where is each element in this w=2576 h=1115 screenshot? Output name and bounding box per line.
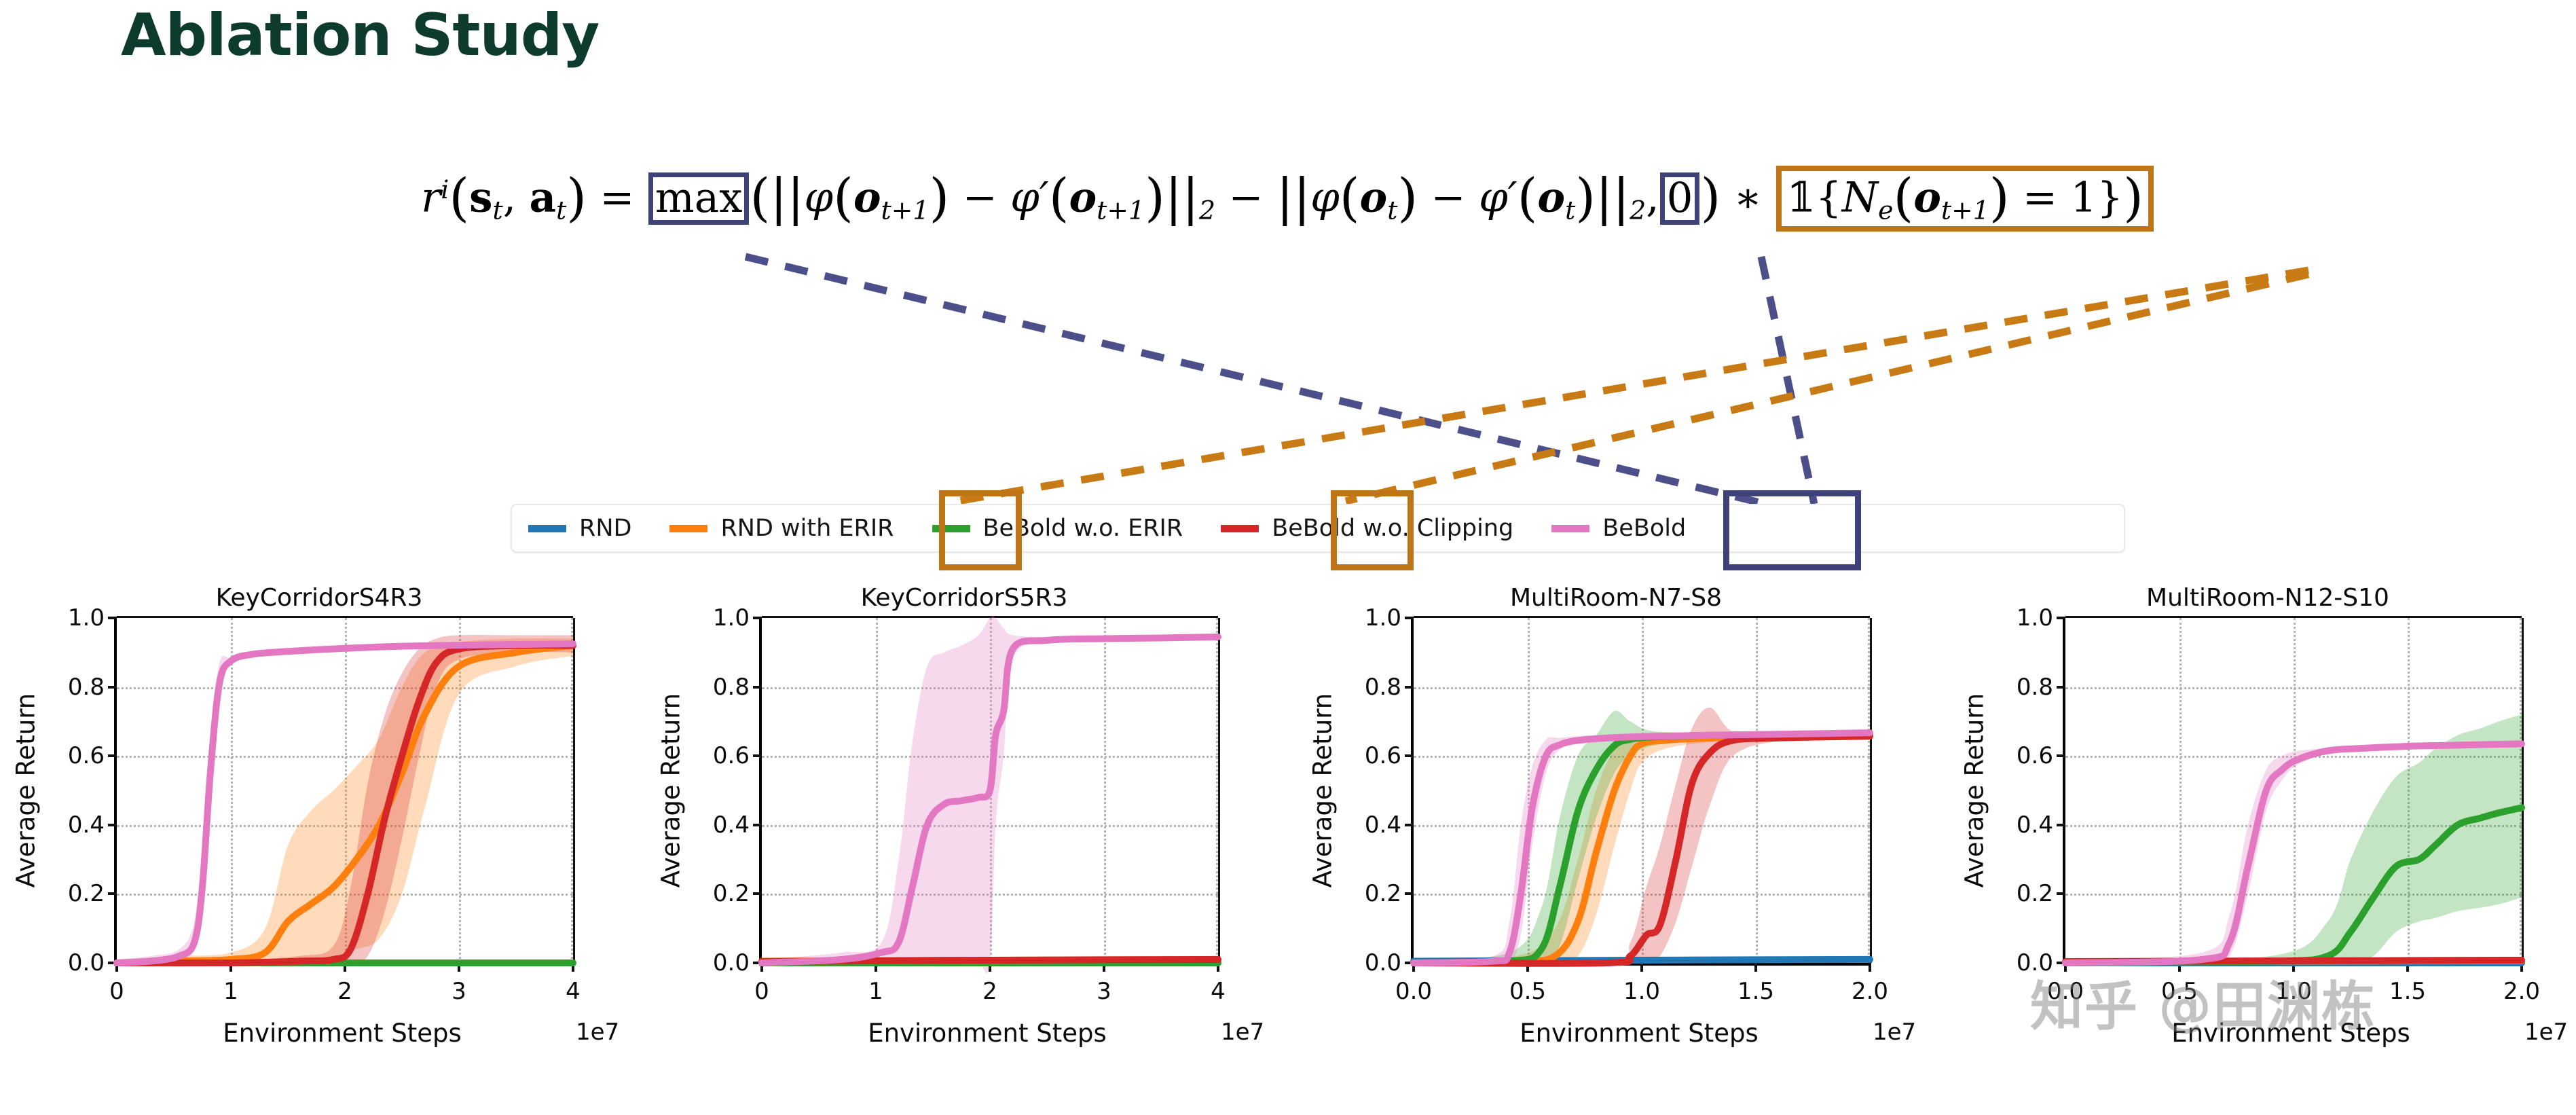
y-tick-mark	[2057, 824, 2065, 826]
formula-o1-subscript: t+1	[881, 195, 930, 225]
x-tick-label: 1.5	[1737, 978, 1774, 1005]
formula-phi2-close: )	[1397, 167, 1418, 227]
formula-zero-highlight-box: 0	[1660, 172, 1700, 225]
y-tick-mark	[108, 824, 117, 826]
formula-o2-subscript: t+1	[1097, 195, 1145, 225]
connector-max-to-clipping	[746, 257, 1765, 504]
formula-indicator-symbol: 𝟙	[1786, 174, 1815, 222]
y-tick-mark	[1405, 824, 1414, 826]
formula-norm2-subscript: 2	[1630, 195, 1646, 225]
formula-phip1-open: (	[1049, 167, 1069, 227]
y-tick-mark	[753, 824, 762, 826]
formula-o-1: o	[853, 174, 881, 222]
legend-label-rnd-with-erir: RND with ERIR	[720, 515, 894, 542]
y-tick-label: 0.8	[68, 674, 105, 701]
legend-swatch-bebold	[1551, 525, 1589, 532]
formula-phi2-open: (	[1340, 167, 1360, 227]
formula-indicator-close-brace: }	[2097, 174, 2123, 222]
formula-o4-subscript: t	[1565, 195, 1575, 225]
chart-panel-1: KeyCorridorS4R30.00.20.40.60.81.001234Av…	[14, 584, 625, 1114]
plot-area: 0.00.20.40.60.81.00.00.51.01.52.0	[2063, 618, 2522, 966]
formula-comma-2: ,	[1646, 174, 1659, 222]
y-axis-label: Average Return	[1960, 693, 1989, 888]
chart-title: KeyCorridorS5R3	[659, 584, 1270, 612]
y-tick-label: 0.6	[1365, 742, 1401, 769]
y-tick-mark	[753, 617, 762, 619]
y-tick-label: 0.4	[68, 811, 105, 839]
series-layer	[117, 618, 573, 963]
x-tick-label: 4	[1211, 978, 1226, 1005]
chart-title: MultiRoom-N7-S8	[1310, 584, 1921, 612]
y-tick-label: 1.0	[713, 604, 750, 632]
y-tick-mark	[108, 686, 117, 689]
y-tick-mark	[2057, 617, 2065, 619]
formula-r-superscript: i	[441, 175, 449, 204]
y-tick-label: 0.6	[713, 742, 750, 769]
x-axis-label: Environment Steps	[114, 1019, 570, 1048]
y-tick-mark	[108, 617, 117, 619]
formula-a-subscript: t	[556, 195, 566, 225]
plot-frame-right	[1218, 618, 1220, 963]
formula-r-symbol: r	[421, 174, 441, 222]
y-tick-label: 0.4	[2017, 811, 2053, 839]
formula-phip2-close: )	[1575, 167, 1596, 227]
series-band-rnd-with-erir	[117, 638, 573, 963]
x-axis-exponent-label: 1e7	[576, 1019, 619, 1046]
formula-final-close-paren: )	[2123, 167, 2143, 227]
formula-equals: =	[587, 174, 648, 222]
formula-phip2-open: (	[1517, 167, 1538, 227]
chart-title: MultiRoom-N12-S10	[1962, 584, 2573, 612]
y-axis-label: Average Return	[12, 693, 41, 888]
formula-o-4: o	[1537, 174, 1565, 222]
x-axis-exponent-label: 1e7	[2524, 1019, 2568, 1046]
y-tick-label: 0.2	[2017, 880, 2053, 907]
y-tick-label: 1.0	[1365, 604, 1401, 632]
formula-multiply: ∗	[1721, 174, 1775, 222]
formula-max-highlight-box: max	[648, 172, 750, 225]
y-tick-label: 0.8	[713, 674, 750, 701]
series-legend: RND RND with ERIR BeBold w.o. ERIR BeBol…	[511, 504, 2125, 553]
y-tick-label: 0.4	[1365, 811, 1401, 839]
legend-swatch-rnd	[528, 525, 566, 532]
formula-o3-subscript: t	[1387, 195, 1397, 225]
y-tick-mark	[1405, 686, 1414, 689]
slide-root: Ablation Study ri(st, at) = max(||φ(ot+1…	[0, 0, 2576, 1115]
x-tick-label: 2.0	[1852, 978, 1888, 1005]
y-tick-mark	[2057, 892, 2065, 895]
formula-phi1-open: (	[833, 167, 853, 227]
y-tick-mark	[753, 686, 762, 689]
x-tick-label: 2	[337, 978, 352, 1005]
y-tick-mark	[753, 892, 762, 895]
x-tick-label: 1	[223, 978, 238, 1005]
x-tick-label: 3	[452, 978, 466, 1005]
y-tick-mark	[108, 892, 117, 895]
y-tick-mark	[1405, 892, 1414, 895]
formula-open-paren: (	[449, 167, 469, 227]
chart-panel-3: MultiRoom-N7-S80.00.20.40.60.81.00.00.51…	[1310, 584, 1921, 1114]
x-tick-mark	[1869, 963, 1871, 972]
plot-frame-right	[2522, 618, 2524, 963]
y-tick-label: 1.0	[2017, 604, 2053, 632]
legend-item-bebold[interactable]: BeBold	[1551, 515, 1686, 542]
x-tick-label: 1.0	[1623, 978, 1660, 1005]
x-tick-label: 1	[868, 978, 883, 1005]
x-tick-label: 1.5	[2389, 978, 2426, 1005]
y-axis-label: Average Return	[1308, 693, 1338, 888]
formula-N-subscript: e	[1878, 195, 1893, 225]
legend-highlight-clipping	[1723, 490, 1861, 570]
y-tick-mark	[2057, 754, 2065, 757]
y-axis-label: Average Return	[657, 693, 686, 888]
y-tick-label: 0.0	[68, 949, 105, 976]
legend-swatch-bebold-wo-clipping	[1221, 525, 1259, 532]
y-tick-label: 0.6	[68, 742, 105, 769]
formula-o5-subscript: t+1	[1941, 195, 1989, 225]
y-tick-label: 0.6	[2017, 742, 2053, 769]
y-tick-mark	[1405, 754, 1414, 757]
formula-phip1-close: )	[1145, 167, 1165, 227]
y-tick-label: 0.2	[713, 880, 750, 907]
legend-swatch-rnd-with-erir	[669, 525, 707, 532]
y-tick-label: 1.0	[68, 604, 105, 632]
watermark: 知乎 @田渊栋	[2030, 964, 2376, 1040]
formula-equals-one: = 1	[2010, 174, 2097, 222]
plot-area: 0.00.20.40.60.81.001234	[114, 618, 573, 966]
formula-minus-1: −	[949, 174, 1010, 222]
formula-minus-2: −	[1215, 174, 1276, 222]
legend-label-bebold: BeBold	[1602, 515, 1686, 542]
formula-indicator-open-brace: {	[1816, 174, 1842, 222]
chart-panel-2: KeyCorridorS5R30.00.20.40.60.81.001234Av…	[659, 584, 1270, 1114]
x-tick-label: 4	[566, 978, 581, 1005]
formula-o-3: o	[1360, 174, 1388, 222]
legend-item-rnd[interactable]: RND	[528, 515, 631, 542]
formula-phi-prime-2: φ′	[1479, 174, 1517, 222]
formula-close-paren: )	[566, 167, 587, 227]
connector-zero-to-clipping	[1761, 257, 1814, 504]
page-title: Ablation Study	[121, 1, 599, 69]
plot-frame-right	[573, 618, 575, 963]
formula-o-2: o	[1069, 174, 1097, 222]
x-tick-mark	[1754, 963, 1757, 972]
formula-indicator-highlight-box: 𝟙{Ne(ot+1) = 1})	[1776, 166, 2153, 232]
formula-comma-1: ,	[503, 174, 530, 222]
formula-max-close-paren: )	[1700, 167, 1721, 227]
formula-phi1-close: )	[929, 167, 949, 227]
legend-highlight-erir-1	[939, 490, 1022, 570]
formula-phi-2: φ	[1310, 174, 1340, 222]
legend-highlight-erir-2	[1331, 490, 1414, 570]
formula-a-symbol: a	[529, 174, 556, 222]
legend-label-rnd: RND	[579, 515, 631, 542]
plot-area: 0.00.20.40.60.81.001234	[759, 618, 1218, 966]
formula-norm1-subscript: 2	[1199, 195, 1215, 225]
y-tick-label: 0.8	[2017, 674, 2053, 701]
formula-norm-close-1: ||	[1165, 167, 1199, 226]
plot-area: 0.00.20.40.60.81.00.00.51.01.52.0	[1411, 618, 1870, 966]
plot-frame-right	[1870, 618, 1872, 963]
formula-o-5: o	[1913, 174, 1941, 222]
x-axis-label: Environment Steps	[1411, 1019, 1867, 1048]
x-tick-label: 2.0	[2503, 978, 2540, 1005]
y-tick-mark	[1405, 617, 1414, 619]
x-tick-label: 2	[982, 978, 997, 1005]
formula-s-symbol: s	[469, 174, 492, 222]
x-axis-exponent-label: 1e7	[1873, 1019, 1916, 1046]
connector-indicator-to-erir-1	[957, 270, 2308, 501]
y-tick-label: 0.2	[1365, 880, 1401, 907]
formula-norm-open-1: ||	[770, 167, 804, 226]
formula-max-open-paren: (	[750, 167, 770, 227]
y-tick-mark	[753, 754, 762, 757]
formula-N-symbol: N	[1842, 174, 1878, 222]
y-tick-mark	[108, 754, 117, 757]
y-tick-label: 0.4	[713, 811, 750, 839]
chart-title: KeyCorridorS4R3	[14, 584, 625, 612]
formula-norm-open-2: ||	[1276, 167, 1310, 226]
y-tick-label: 0.2	[68, 880, 105, 907]
x-tick-label: 0.0	[1395, 978, 1432, 1005]
y-tick-label: 0.0	[713, 949, 750, 976]
series-layer	[762, 618, 1218, 963]
x-axis-exponent-label: 1e7	[1221, 1019, 1264, 1046]
x-tick-mark	[1640, 963, 1643, 972]
y-tick-label: 0.8	[1365, 674, 1401, 701]
x-tick-label: 0	[754, 978, 769, 1005]
x-tick-label: 0.5	[1509, 978, 1546, 1005]
formula-Ne-close: )	[1989, 167, 2010, 227]
series-layer	[1414, 618, 1870, 963]
formula-Ne-open: (	[1893, 167, 1913, 227]
formula-s-subscript: t	[492, 195, 502, 225]
series-layer	[2065, 618, 2522, 963]
reward-formula: ri(st, at) = max(||φ(ot+1) − φ′(ot+1)||2…	[0, 166, 2576, 232]
formula-minus-3: −	[1418, 174, 1479, 222]
legend-item-rnd-with-erir[interactable]: RND with ERIR	[669, 515, 894, 542]
x-tick-label: 3	[1097, 978, 1111, 1005]
formula-phi-1: φ	[804, 174, 833, 222]
formula-norm-close-2: ||	[1596, 167, 1630, 226]
y-tick-label: 0.0	[1365, 949, 1401, 976]
connector-indicator-to-erir-2	[1346, 274, 2308, 501]
x-tick-label: 0	[109, 978, 124, 1005]
y-tick-mark	[2057, 686, 2065, 689]
formula-phi-prime-1: φ′	[1010, 174, 1049, 222]
x-axis-label: Environment Steps	[759, 1019, 1215, 1048]
